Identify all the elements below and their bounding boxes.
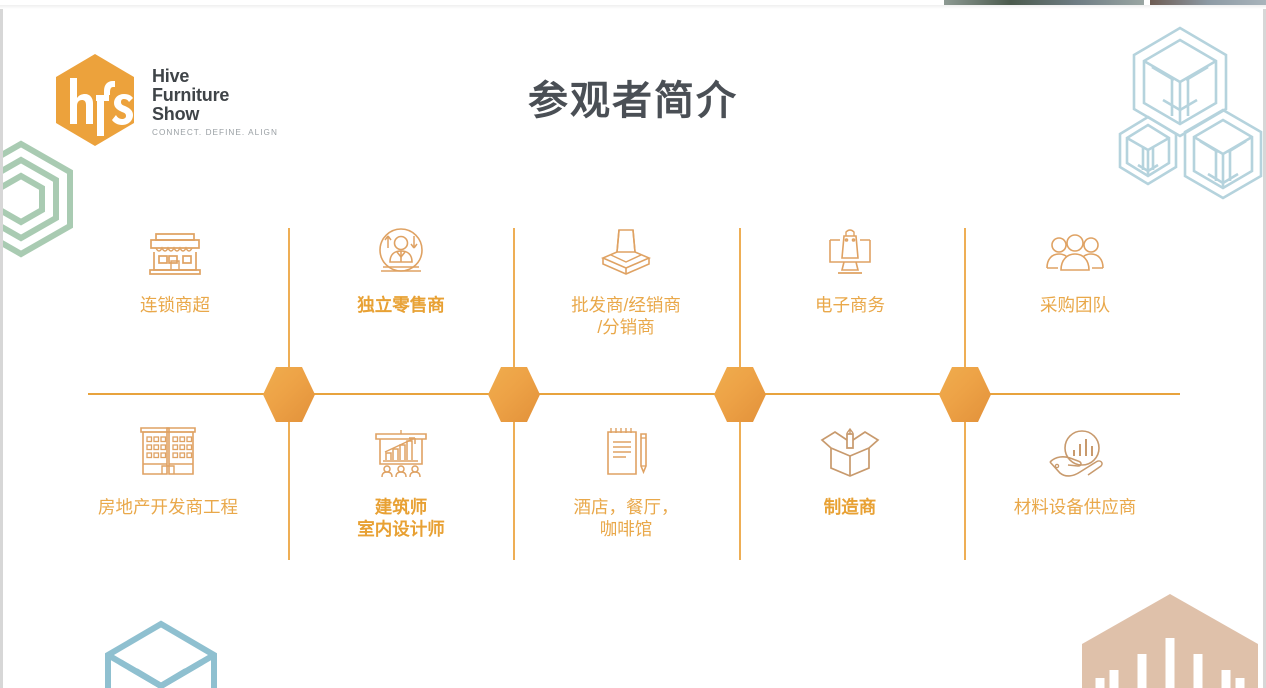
category-label: 建筑师 室内设计师 (291, 496, 511, 541)
category-item-hospitality[interactable]: 酒店，餐厅， 咖啡馆 (516, 424, 736, 541)
presentation-chart-icon (291, 424, 511, 480)
category-item-chain-stores[interactable]: 连锁商超 (65, 222, 285, 316)
category-label: 房地产开发商工程 (58, 496, 278, 518)
category-item-independent-retailer[interactable]: 独立零售商 (291, 222, 511, 316)
chrome-shadow (0, 5, 1266, 9)
timeline-horizontal-axis (88, 393, 1180, 395)
category-item-manufacturer[interactable]: 制造商 (740, 424, 960, 518)
hand-chart-icon (965, 424, 1185, 480)
category-label: 电子商务 (740, 294, 960, 316)
category-label: 批发商/经销商 /分销商 (516, 294, 736, 339)
category-label: 材料设备供应商 (965, 496, 1185, 518)
category-label: 独立零售商 (291, 294, 511, 316)
open-box-icon (516, 222, 736, 278)
category-label: 连锁商超 (65, 294, 285, 316)
notepad-pencil-icon (516, 424, 736, 480)
presentation-slide: Hive Furniture Show CONNECT. DEFINE. ALI… (0, 0, 1266, 688)
people-group-icon (965, 222, 1185, 278)
timeline-node-2 (488, 367, 540, 422)
category-item-material-supplier[interactable]: 材料设备供应商 (965, 424, 1185, 518)
open-carton-icon (740, 424, 960, 480)
category-label: 制造商 (740, 496, 960, 518)
category-item-ecommerce[interactable]: 电子商务 (740, 222, 960, 316)
category-label: 酒店，餐厅， 咖啡馆 (516, 496, 736, 541)
category-label: 采购团队 (965, 294, 1185, 316)
timeline-node-4 (939, 367, 991, 422)
page-edge-left (0, 9, 3, 688)
timeline-node-3 (714, 367, 766, 422)
category-item-wholesaler[interactable]: 批发商/经销商 /分销商 (516, 222, 736, 339)
category-item-buying-team[interactable]: 采购团队 (965, 222, 1185, 316)
page-title: 参观者简介 (0, 68, 1266, 126)
retailer-person-icon (291, 222, 511, 278)
category-item-real-estate-developer[interactable]: 房地产开发商工程 (58, 424, 278, 518)
category-item-architect-designer[interactable]: 建筑师 室内设计师 (291, 424, 511, 541)
storefront-icon (65, 222, 285, 278)
timeline-node-1 (263, 367, 315, 422)
logo-tagline: CONNECT. DEFINE. ALIGN (152, 128, 278, 137)
ecommerce-monitor-icon (740, 222, 960, 278)
buildings-icon (58, 424, 278, 480)
browser-chrome-strip (0, 0, 1266, 9)
